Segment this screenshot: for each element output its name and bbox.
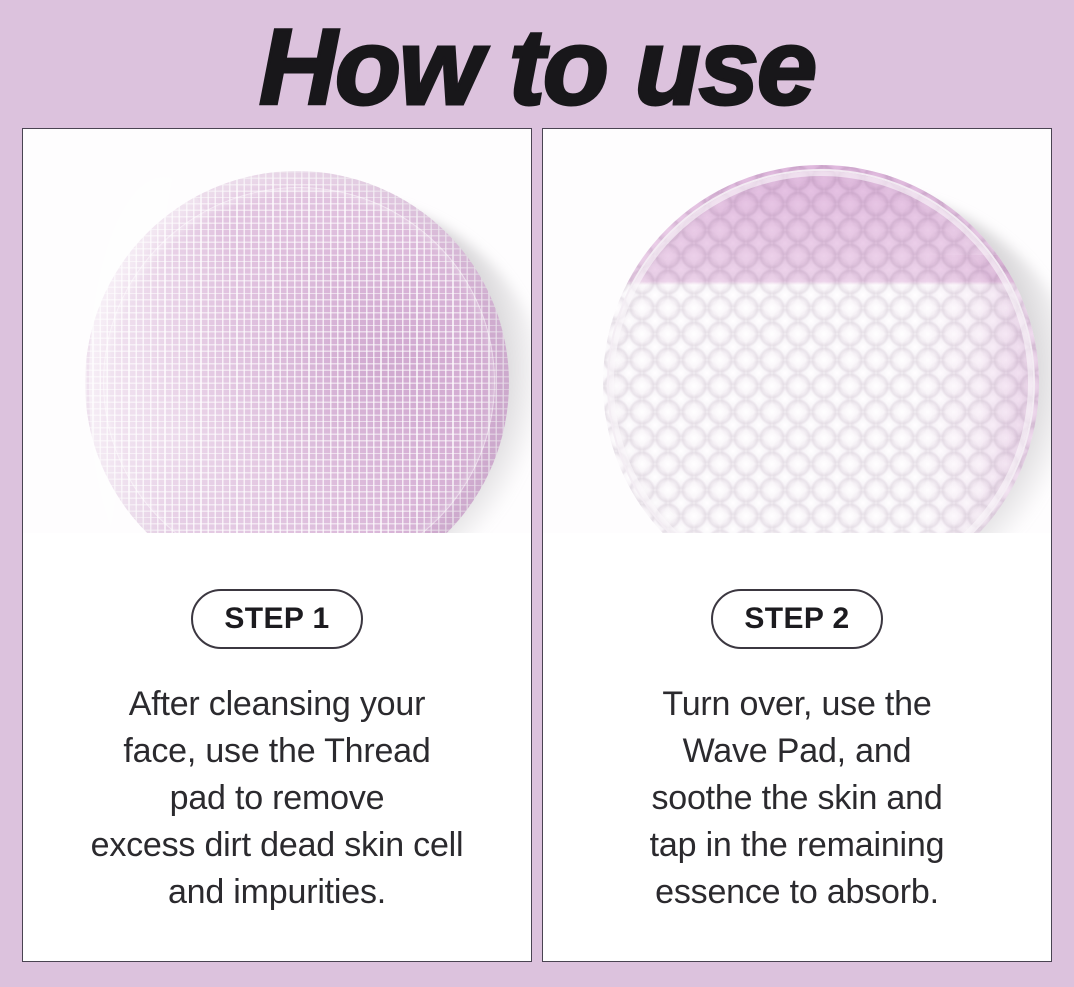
steps-container: STEP 1 After cleansing your face, use th…: [22, 128, 1052, 962]
page-title: How to use: [0, 8, 1074, 126]
step-badge-2: STEP 2: [711, 589, 883, 649]
step-card-1: STEP 1 After cleansing your face, use th…: [22, 128, 532, 962]
step-badge-1: STEP 1: [191, 589, 363, 649]
wave-pad-image: [603, 165, 1039, 533]
step-1-body: STEP 1 After cleansing your face, use th…: [23, 533, 531, 961]
thread-pad-image: [85, 171, 509, 533]
step-card-2: STEP 2 Turn over, use the Wave Pad, and …: [542, 128, 1052, 962]
step-1-photo: [23, 129, 531, 533]
step-1-description: After cleansing your face, use the Threa…: [91, 681, 464, 916]
step-2-photo: [543, 129, 1051, 533]
step-2-description: Turn over, use the Wave Pad, and soothe …: [650, 681, 945, 916]
step-2-body: STEP 2 Turn over, use the Wave Pad, and …: [543, 533, 1051, 961]
